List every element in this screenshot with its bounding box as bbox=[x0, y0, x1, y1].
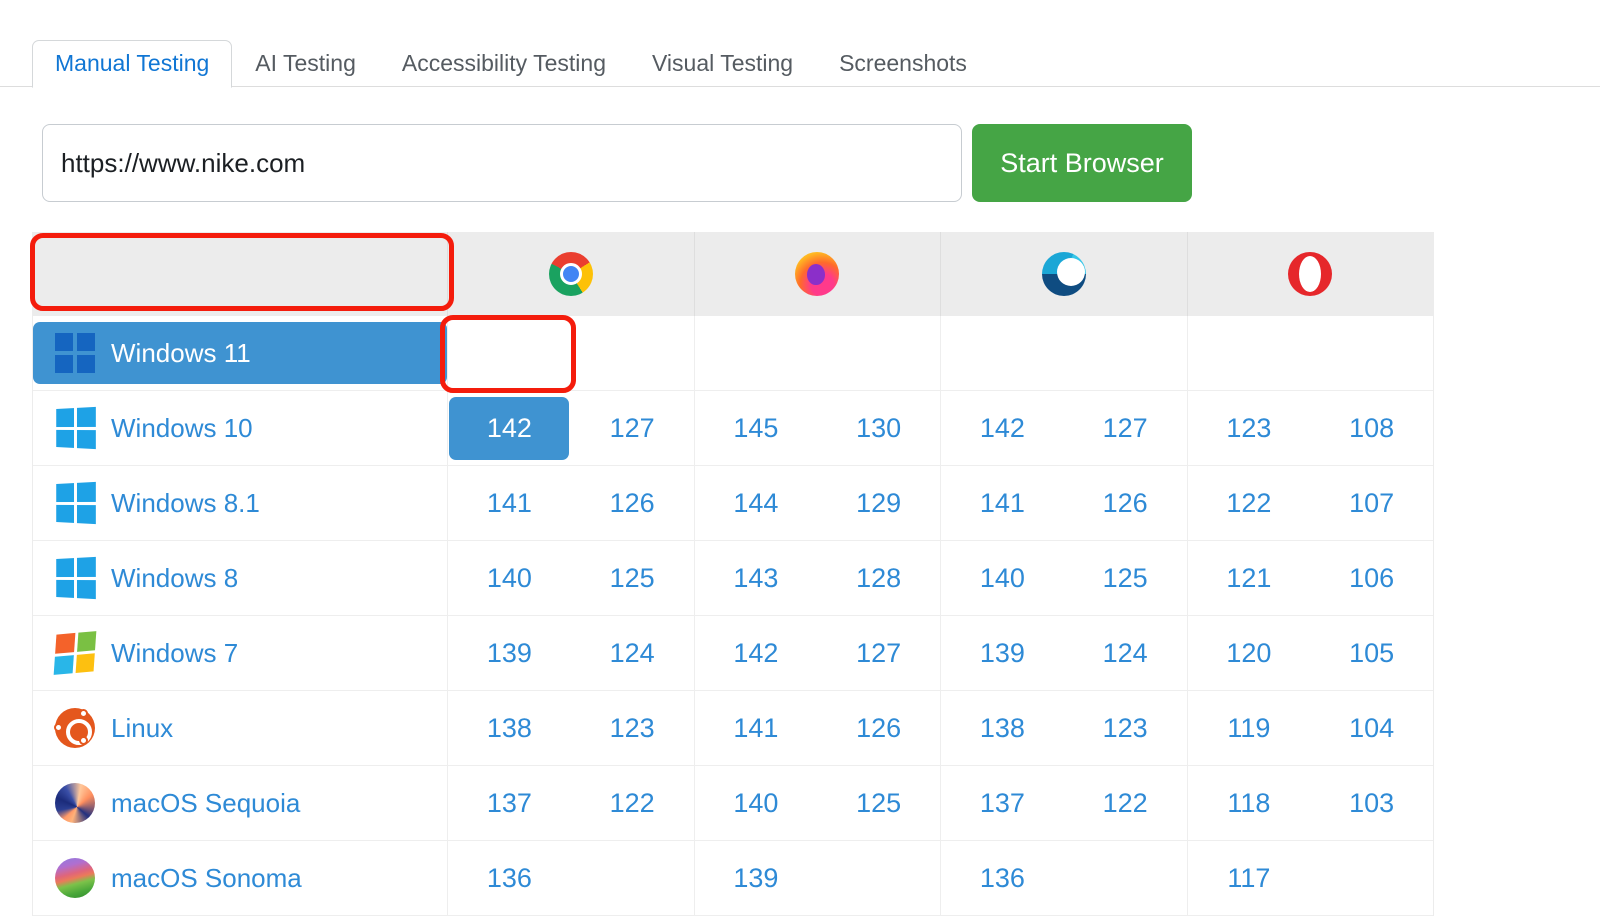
version-cell[interactable]: 128 bbox=[817, 541, 940, 615]
version-cell[interactable] bbox=[1310, 316, 1433, 390]
version-value: 105 bbox=[1349, 638, 1394, 669]
version-cell[interactable]: 137 bbox=[448, 766, 571, 840]
table-row: macOS Sequoia137122140125137122118103 bbox=[33, 766, 1433, 841]
version-value: 117 bbox=[1227, 863, 1270, 894]
table-row: macOS Sonoma136139136117 bbox=[33, 841, 1433, 916]
tab-ai-testing[interactable]: AI Testing bbox=[232, 40, 379, 87]
version-cell[interactable]: 144 bbox=[695, 466, 818, 540]
table-row: Windows 10142127145130142127123108 bbox=[33, 391, 1433, 466]
version-group-edge bbox=[940, 316, 1187, 390]
version-value: 138 bbox=[487, 713, 532, 744]
version-cell[interactable]: 122 bbox=[1188, 466, 1311, 540]
version-group-opera: 120105 bbox=[1187, 616, 1434, 690]
version-value: 103 bbox=[1349, 788, 1394, 819]
table-row: Windows 11 bbox=[33, 316, 1433, 391]
version-value: 123 bbox=[610, 713, 655, 744]
version-cell[interactable]: 125 bbox=[817, 766, 940, 840]
os-cell-windows-8[interactable]: Windows 8 bbox=[33, 541, 447, 615]
version-cell[interactable]: 140 bbox=[695, 766, 818, 840]
version-cell[interactable]: 122 bbox=[1064, 766, 1187, 840]
ubuntu-icon bbox=[55, 708, 95, 748]
version-group-chrome: 139124 bbox=[447, 616, 694, 690]
version-group-edge: 138123 bbox=[940, 691, 1187, 765]
version-cell[interactable]: 140 bbox=[448, 541, 571, 615]
version-value: 122 bbox=[1103, 788, 1148, 819]
url-input[interactable] bbox=[42, 124, 962, 202]
version-value: 140 bbox=[733, 788, 778, 819]
version-group-chrome: 142127 bbox=[447, 391, 694, 465]
version-value: 106 bbox=[1349, 563, 1394, 594]
tab-accessibility-testing[interactable]: Accessibility Testing bbox=[379, 40, 629, 87]
version-value: 136 bbox=[980, 863, 1025, 894]
version-cell[interactable] bbox=[448, 316, 571, 390]
version-value: 137 bbox=[980, 788, 1025, 819]
version-group-firefox: 139 bbox=[694, 841, 941, 915]
windows-10-icon bbox=[56, 407, 96, 449]
version-group-edge: 142127 bbox=[940, 391, 1187, 465]
windows-8-icon bbox=[56, 557, 96, 599]
version-cell[interactable]: 140 bbox=[941, 541, 1064, 615]
version-cell[interactable]: 145 bbox=[695, 391, 818, 465]
version-cell[interactable]: 122 bbox=[571, 766, 694, 840]
version-cell[interactable]: 129 bbox=[817, 466, 940, 540]
version-cell[interactable]: 143 bbox=[695, 541, 818, 615]
version-cell[interactable] bbox=[1310, 841, 1433, 915]
version-group-edge: 141126 bbox=[940, 466, 1187, 540]
version-value: 142 bbox=[980, 413, 1025, 444]
version-value: 125 bbox=[610, 563, 655, 594]
version-group-edge: 140125 bbox=[940, 541, 1187, 615]
version-cell[interactable]: 123 bbox=[1064, 691, 1187, 765]
browser-column-header-firefox bbox=[694, 232, 941, 316]
version-group-edge: 137122 bbox=[940, 766, 1187, 840]
version-cell[interactable]: 139 bbox=[695, 841, 818, 915]
version-value: 139 bbox=[980, 638, 1025, 669]
version-cell[interactable]: 124 bbox=[571, 616, 694, 690]
os-cell-windows-11[interactable]: Windows 11 bbox=[33, 322, 447, 384]
os-cell-linux[interactable]: Linux bbox=[33, 691, 447, 765]
version-group-opera bbox=[1187, 316, 1434, 390]
version-cell[interactable]: 103 bbox=[1310, 766, 1433, 840]
version-value: 123 bbox=[1226, 413, 1271, 444]
version-value: 139 bbox=[733, 863, 778, 894]
url-toolbar: Start Browser bbox=[42, 124, 1192, 202]
version-value: 141 bbox=[487, 488, 532, 519]
version-cell[interactable]: 107 bbox=[1310, 466, 1433, 540]
version-group-firefox bbox=[694, 316, 941, 390]
macos-sequoia-icon bbox=[55, 783, 95, 823]
version-cell[interactable]: 106 bbox=[1310, 541, 1433, 615]
version-value: 136 bbox=[487, 863, 532, 894]
version-value: 122 bbox=[610, 788, 655, 819]
version-cell[interactable]: 142 bbox=[448, 391, 571, 465]
header-os-cell bbox=[33, 232, 447, 316]
version-cell[interactable]: 104 bbox=[1310, 691, 1433, 765]
tab-manual-testing[interactable]: Manual Testing bbox=[32, 40, 232, 88]
os-cell-macos-sequoia[interactable]: macOS Sequoia bbox=[33, 766, 447, 840]
version-cell[interactable]: 120 bbox=[1188, 616, 1311, 690]
version-cell[interactable]: 136 bbox=[448, 841, 571, 915]
version-group-chrome: 140125 bbox=[447, 541, 694, 615]
version-group-firefox: 144129 bbox=[694, 466, 941, 540]
tab-screenshots[interactable]: Screenshots bbox=[816, 40, 990, 87]
version-cell[interactable]: 126 bbox=[817, 691, 940, 765]
version-cell[interactable]: 139 bbox=[448, 616, 571, 690]
edge-icon bbox=[1042, 252, 1086, 296]
version-group-edge: 136 bbox=[940, 841, 1187, 915]
os-label: Windows 11 bbox=[111, 338, 251, 369]
version-value: 107 bbox=[1349, 488, 1394, 519]
version-group-opera: 118103 bbox=[1187, 766, 1434, 840]
os-label: Windows 7 bbox=[111, 638, 238, 669]
windows-11-icon bbox=[55, 333, 95, 373]
browser-column-header-edge bbox=[940, 232, 1187, 316]
os-label: Windows 8 bbox=[111, 563, 238, 594]
version-cell[interactable] bbox=[941, 316, 1064, 390]
version-value: 104 bbox=[1349, 713, 1394, 744]
os-cell-windows-10[interactable]: Windows 10 bbox=[33, 391, 447, 465]
os-cell-macos-sonoma[interactable]: macOS Sonoma bbox=[33, 841, 447, 915]
version-cell[interactable]: 108 bbox=[1310, 391, 1433, 465]
version-value: 137 bbox=[487, 788, 532, 819]
tab-bar: Manual TestingAI TestingAccessibility Te… bbox=[0, 30, 1600, 87]
version-cell[interactable]: 136 bbox=[941, 841, 1064, 915]
version-value: 118 bbox=[1227, 788, 1270, 819]
version-group-chrome: 141126 bbox=[447, 466, 694, 540]
version-cell[interactable] bbox=[1188, 316, 1311, 390]
version-value: 140 bbox=[980, 563, 1025, 594]
version-group-chrome bbox=[447, 316, 694, 390]
version-value: 138 bbox=[980, 713, 1025, 744]
version-value: 127 bbox=[856, 638, 901, 669]
version-cell[interactable] bbox=[817, 316, 940, 390]
version-cell[interactable]: 123 bbox=[1188, 391, 1311, 465]
table-row: Windows 8140125143128140125121106 bbox=[33, 541, 1433, 616]
version-cell[interactable]: 121 bbox=[1188, 541, 1311, 615]
os-label: macOS Sonoma bbox=[111, 863, 302, 894]
version-cell[interactable]: 138 bbox=[448, 691, 571, 765]
version-value: 128 bbox=[856, 563, 901, 594]
version-cell[interactable]: 127 bbox=[817, 616, 940, 690]
version-group-firefox: 145130 bbox=[694, 391, 941, 465]
table-header-row bbox=[33, 232, 1433, 316]
table-row: Linux138123141126138123119104 bbox=[33, 691, 1433, 766]
os-cell-windows-8-1[interactable]: Windows 8.1 bbox=[33, 466, 447, 540]
os-label: Linux bbox=[111, 713, 173, 744]
windows-8-icon bbox=[56, 482, 96, 524]
version-value: 141 bbox=[733, 713, 778, 744]
tab-visual-testing[interactable]: Visual Testing bbox=[629, 40, 816, 87]
browser-column-header-opera bbox=[1187, 232, 1434, 316]
start-browser-button[interactable]: Start Browser bbox=[972, 124, 1192, 202]
version-cell[interactable]: 123 bbox=[571, 691, 694, 765]
version-cell[interactable]: 125 bbox=[571, 541, 694, 615]
version-group-opera: 119104 bbox=[1187, 691, 1434, 765]
version-value: 139 bbox=[487, 638, 532, 669]
tab-list: Manual TestingAI TestingAccessibility Te… bbox=[32, 30, 990, 87]
version-group-chrome: 137122 bbox=[447, 766, 694, 840]
version-cell[interactable]: 117 bbox=[1188, 841, 1311, 915]
version-value: 141 bbox=[980, 488, 1025, 519]
version-cell[interactable]: 126 bbox=[1064, 466, 1187, 540]
version-cell[interactable]: 124 bbox=[1064, 616, 1187, 690]
version-group-opera: 117 bbox=[1187, 841, 1434, 915]
version-cell[interactable] bbox=[817, 841, 940, 915]
version-value: 125 bbox=[856, 788, 901, 819]
version-cell[interactable]: 141 bbox=[448, 466, 571, 540]
os-cell-windows-7[interactable]: Windows 7 bbox=[33, 616, 447, 690]
opera-icon bbox=[1288, 252, 1332, 296]
version-cell[interactable]: 119 bbox=[1188, 691, 1311, 765]
version-value: 142 bbox=[733, 638, 778, 669]
version-value: 126 bbox=[610, 488, 655, 519]
version-cell[interactable]: 142 bbox=[695, 616, 818, 690]
version-cell[interactable]: 125 bbox=[1064, 541, 1187, 615]
version-cell[interactable]: 137 bbox=[941, 766, 1064, 840]
version-cell[interactable] bbox=[1064, 316, 1187, 390]
os-label: Windows 8.1 bbox=[111, 488, 260, 519]
windows-7-icon bbox=[54, 631, 97, 675]
firefox-icon bbox=[795, 252, 839, 296]
version-value: 121 bbox=[1226, 563, 1271, 594]
version-cell[interactable]: 139 bbox=[941, 616, 1064, 690]
version-value: 108 bbox=[1349, 413, 1394, 444]
version-cell[interactable] bbox=[1064, 841, 1187, 915]
version-cell[interactable]: 126 bbox=[571, 466, 694, 540]
version-value: 124 bbox=[610, 638, 655, 669]
version-value: 123 bbox=[1103, 713, 1148, 744]
table-row: Windows 7139124142127139124120105 bbox=[33, 616, 1433, 691]
version-cell[interactable]: 138 bbox=[941, 691, 1064, 765]
version-cell[interactable]: 141 bbox=[695, 691, 818, 765]
version-cell[interactable]: 142 bbox=[941, 391, 1064, 465]
version-cell[interactable]: 141 bbox=[941, 466, 1064, 540]
version-group-firefox: 141126 bbox=[694, 691, 941, 765]
browser-column-header-chrome bbox=[447, 232, 694, 316]
version-value: 140 bbox=[487, 563, 532, 594]
version-group-firefox: 143128 bbox=[694, 541, 941, 615]
version-value: 142 bbox=[449, 397, 569, 460]
version-cell[interactable] bbox=[695, 316, 818, 390]
os-label: macOS Sequoia bbox=[111, 788, 300, 819]
os-browser-version-table: Windows 11Windows 1014212714513014212712… bbox=[32, 232, 1434, 916]
version-cell[interactable]: 127 bbox=[571, 391, 694, 465]
chrome-icon bbox=[549, 252, 593, 296]
version-group-opera: 123108 bbox=[1187, 391, 1434, 465]
version-value: 127 bbox=[1103, 413, 1148, 444]
version-value: 120 bbox=[1226, 638, 1271, 669]
version-cell[interactable]: 105 bbox=[1310, 616, 1433, 690]
version-value: 119 bbox=[1227, 713, 1270, 744]
version-group-opera: 121106 bbox=[1187, 541, 1434, 615]
version-value: 124 bbox=[1103, 638, 1148, 669]
macos-sonoma-icon bbox=[55, 858, 95, 898]
os-label: Windows 10 bbox=[111, 413, 253, 444]
version-cell[interactable]: 118 bbox=[1188, 766, 1311, 840]
version-group-edge: 139124 bbox=[940, 616, 1187, 690]
version-value: 125 bbox=[1103, 563, 1148, 594]
version-value: 122 bbox=[1226, 488, 1271, 519]
version-cell[interactable] bbox=[571, 316, 694, 390]
version-group-firefox: 140125 bbox=[694, 766, 941, 840]
version-value: 144 bbox=[733, 488, 778, 519]
version-group-firefox: 142127 bbox=[694, 616, 941, 690]
version-value: 145 bbox=[733, 413, 778, 444]
version-value: 127 bbox=[610, 413, 655, 444]
version-cell[interactable]: 127 bbox=[1064, 391, 1187, 465]
version-cell[interactable]: 130 bbox=[817, 391, 940, 465]
version-value: 129 bbox=[856, 488, 901, 519]
table-row: Windows 8.1141126144129141126122107 bbox=[33, 466, 1433, 541]
version-value: 126 bbox=[856, 713, 901, 744]
version-group-chrome: 136 bbox=[447, 841, 694, 915]
version-group-opera: 122107 bbox=[1187, 466, 1434, 540]
version-value: 143 bbox=[733, 563, 778, 594]
version-value: 126 bbox=[1103, 488, 1148, 519]
version-group-chrome: 138123 bbox=[447, 691, 694, 765]
version-cell[interactable] bbox=[571, 841, 694, 915]
version-value: 130 bbox=[856, 413, 901, 444]
